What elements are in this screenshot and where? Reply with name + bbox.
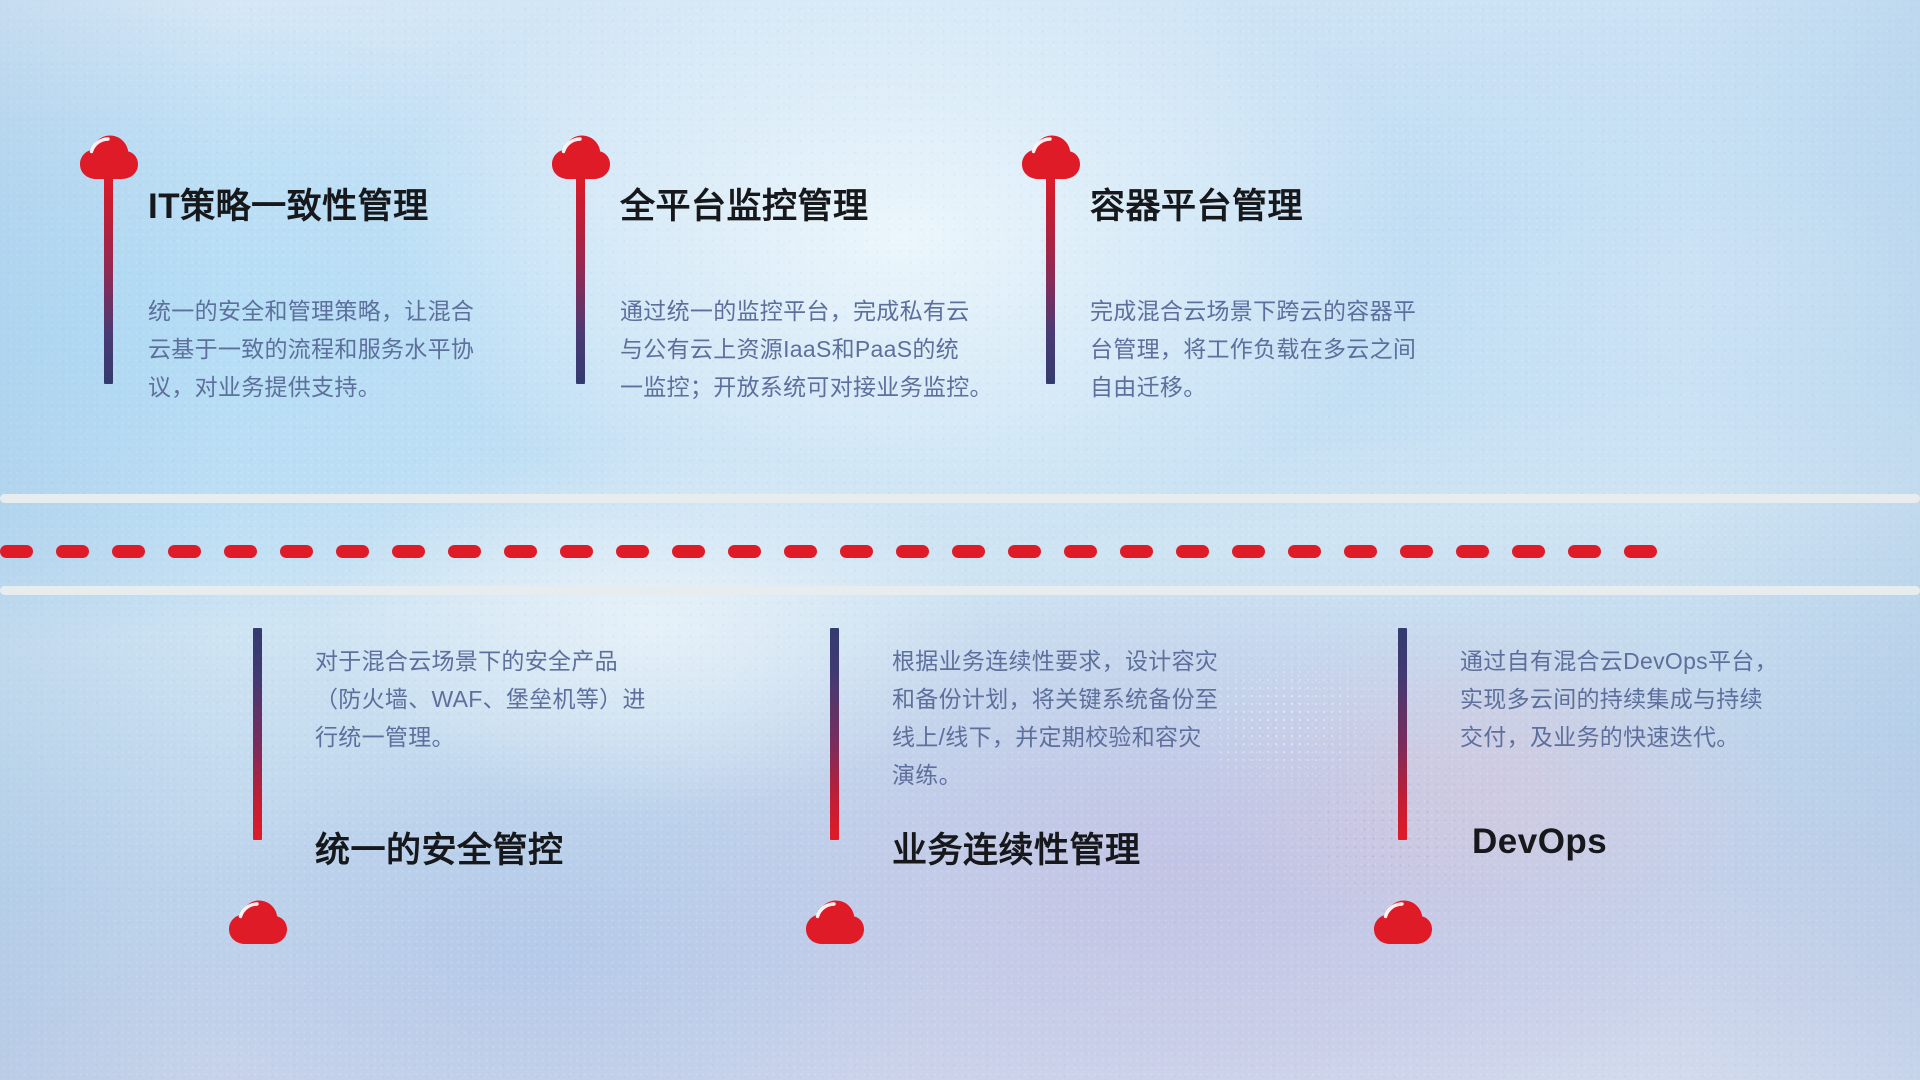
- body-line: 一监控；开放系统可对接业务监控。: [620, 368, 993, 406]
- cloud-icon: [227, 898, 289, 945]
- connector-stem: [253, 628, 262, 840]
- divider-dash: [504, 545, 537, 558]
- body-line: 统一的安全和管理策略，让混合: [148, 292, 474, 330]
- cloud-icon: [804, 898, 866, 945]
- panel-heading: DevOps: [1472, 822, 1607, 862]
- divider-dash: [952, 545, 985, 558]
- panel-body: 通过统一的监控平台，完成私有云 与公有云上资源IaaS和PaaS的统 一监控；开…: [620, 292, 993, 406]
- divider-rule-bottom: [0, 586, 1920, 595]
- body-line: 通过统一的监控平台，完成私有云: [620, 292, 993, 330]
- divider-dash: [560, 545, 593, 558]
- divider-dash: [112, 545, 145, 558]
- body-line: 和备份计划，将关键系统备份至: [892, 680, 1218, 718]
- body-line: 自由迁移。: [1090, 368, 1416, 406]
- body-line: 行统一管理。: [315, 718, 646, 756]
- panel-heading: 全平台监控管理: [620, 178, 869, 229]
- body-line: 根据业务连续性要求，设计容灾: [892, 642, 1218, 680]
- panel-body: 完成混合云场景下跨云的容器平 台管理，将工作负载在多云之间 自由迁移。: [1090, 292, 1416, 406]
- panel-heading: 容器平台管理: [1090, 178, 1303, 229]
- body-line: 对于混合云场景下的安全产品: [315, 642, 646, 680]
- divider-dash: [1288, 545, 1321, 558]
- connector-stem: [576, 172, 585, 384]
- divider-dash: [1624, 545, 1657, 558]
- divider-dash: [336, 545, 369, 558]
- panel-body: 通过自有混合云DevOps平台， 实现多云间的持续集成与持续 交付，及业务的快速…: [1460, 642, 1778, 756]
- divider-dash: [1344, 545, 1377, 558]
- divider-dash: [672, 545, 705, 558]
- divider-dash: [840, 545, 873, 558]
- body-line: 通过自有混合云DevOps平台，: [1460, 642, 1778, 680]
- infographic-canvas: IT策略一致性管理 统一的安全和管理策略，让混合 云基于一致的流程和服务水平协 …: [0, 0, 1920, 1080]
- divider-dash: [728, 545, 761, 558]
- body-line: （防火墙、WAF、堡垒机等）进: [315, 680, 646, 718]
- divider-dash: [168, 545, 201, 558]
- body-line: 议，对业务提供支持。: [148, 368, 474, 406]
- divider-dash: [1568, 545, 1601, 558]
- divider-dash: [1232, 545, 1265, 558]
- body-line: 实现多云间的持续集成与持续: [1460, 680, 1778, 718]
- divider-dash: [448, 545, 481, 558]
- panel-body: 对于混合云场景下的安全产品 （防火墙、WAF、堡垒机等）进 行统一管理。: [315, 642, 646, 756]
- divider-dash: [1400, 545, 1433, 558]
- cloud-icon: [1372, 898, 1434, 945]
- divider-rule-top: [0, 494, 1920, 503]
- body-line: 台管理，将工作负载在多云之间: [1090, 330, 1416, 368]
- divider-dashed-line: [0, 545, 1920, 558]
- connector-stem: [1398, 628, 1407, 840]
- connector-stem: [830, 628, 839, 840]
- panel-heading: 统一的安全管控: [315, 822, 564, 873]
- panel-body: 根据业务连续性要求，设计容灾 和备份计划，将关键系统备份至 线上/线下，并定期校…: [892, 642, 1218, 794]
- divider-dash: [616, 545, 649, 558]
- panel-heading: 业务连续性管理: [892, 822, 1141, 873]
- divider-dash: [784, 545, 817, 558]
- divider-dash: [1064, 545, 1097, 558]
- connector-stem: [1046, 172, 1055, 384]
- divider-dash: [224, 545, 257, 558]
- divider-dash: [1008, 545, 1041, 558]
- body-line: 线上/线下，并定期校验和容灾: [892, 718, 1218, 756]
- divider-dash: [0, 545, 33, 558]
- body-line: 云基于一致的流程和服务水平协: [148, 330, 474, 368]
- panel-body: 统一的安全和管理策略，让混合 云基于一致的流程和服务水平协 议，对业务提供支持。: [148, 292, 474, 406]
- divider-dash: [1512, 545, 1545, 558]
- divider-dash: [1120, 545, 1153, 558]
- divider-dash: [1456, 545, 1489, 558]
- panel-heading: IT策略一致性管理: [148, 178, 429, 229]
- divider-dash: [280, 545, 313, 558]
- body-line: 交付，及业务的快速迭代。: [1460, 718, 1778, 756]
- divider-dash: [56, 545, 89, 558]
- connector-stem: [104, 172, 113, 384]
- body-line: 完成混合云场景下跨云的容器平: [1090, 292, 1416, 330]
- divider-dash: [1176, 545, 1209, 558]
- divider-dash: [896, 545, 929, 558]
- body-line: 演练。: [892, 756, 1218, 794]
- body-line: 与公有云上资源IaaS和PaaS的统: [620, 330, 993, 368]
- divider-dash: [392, 545, 425, 558]
